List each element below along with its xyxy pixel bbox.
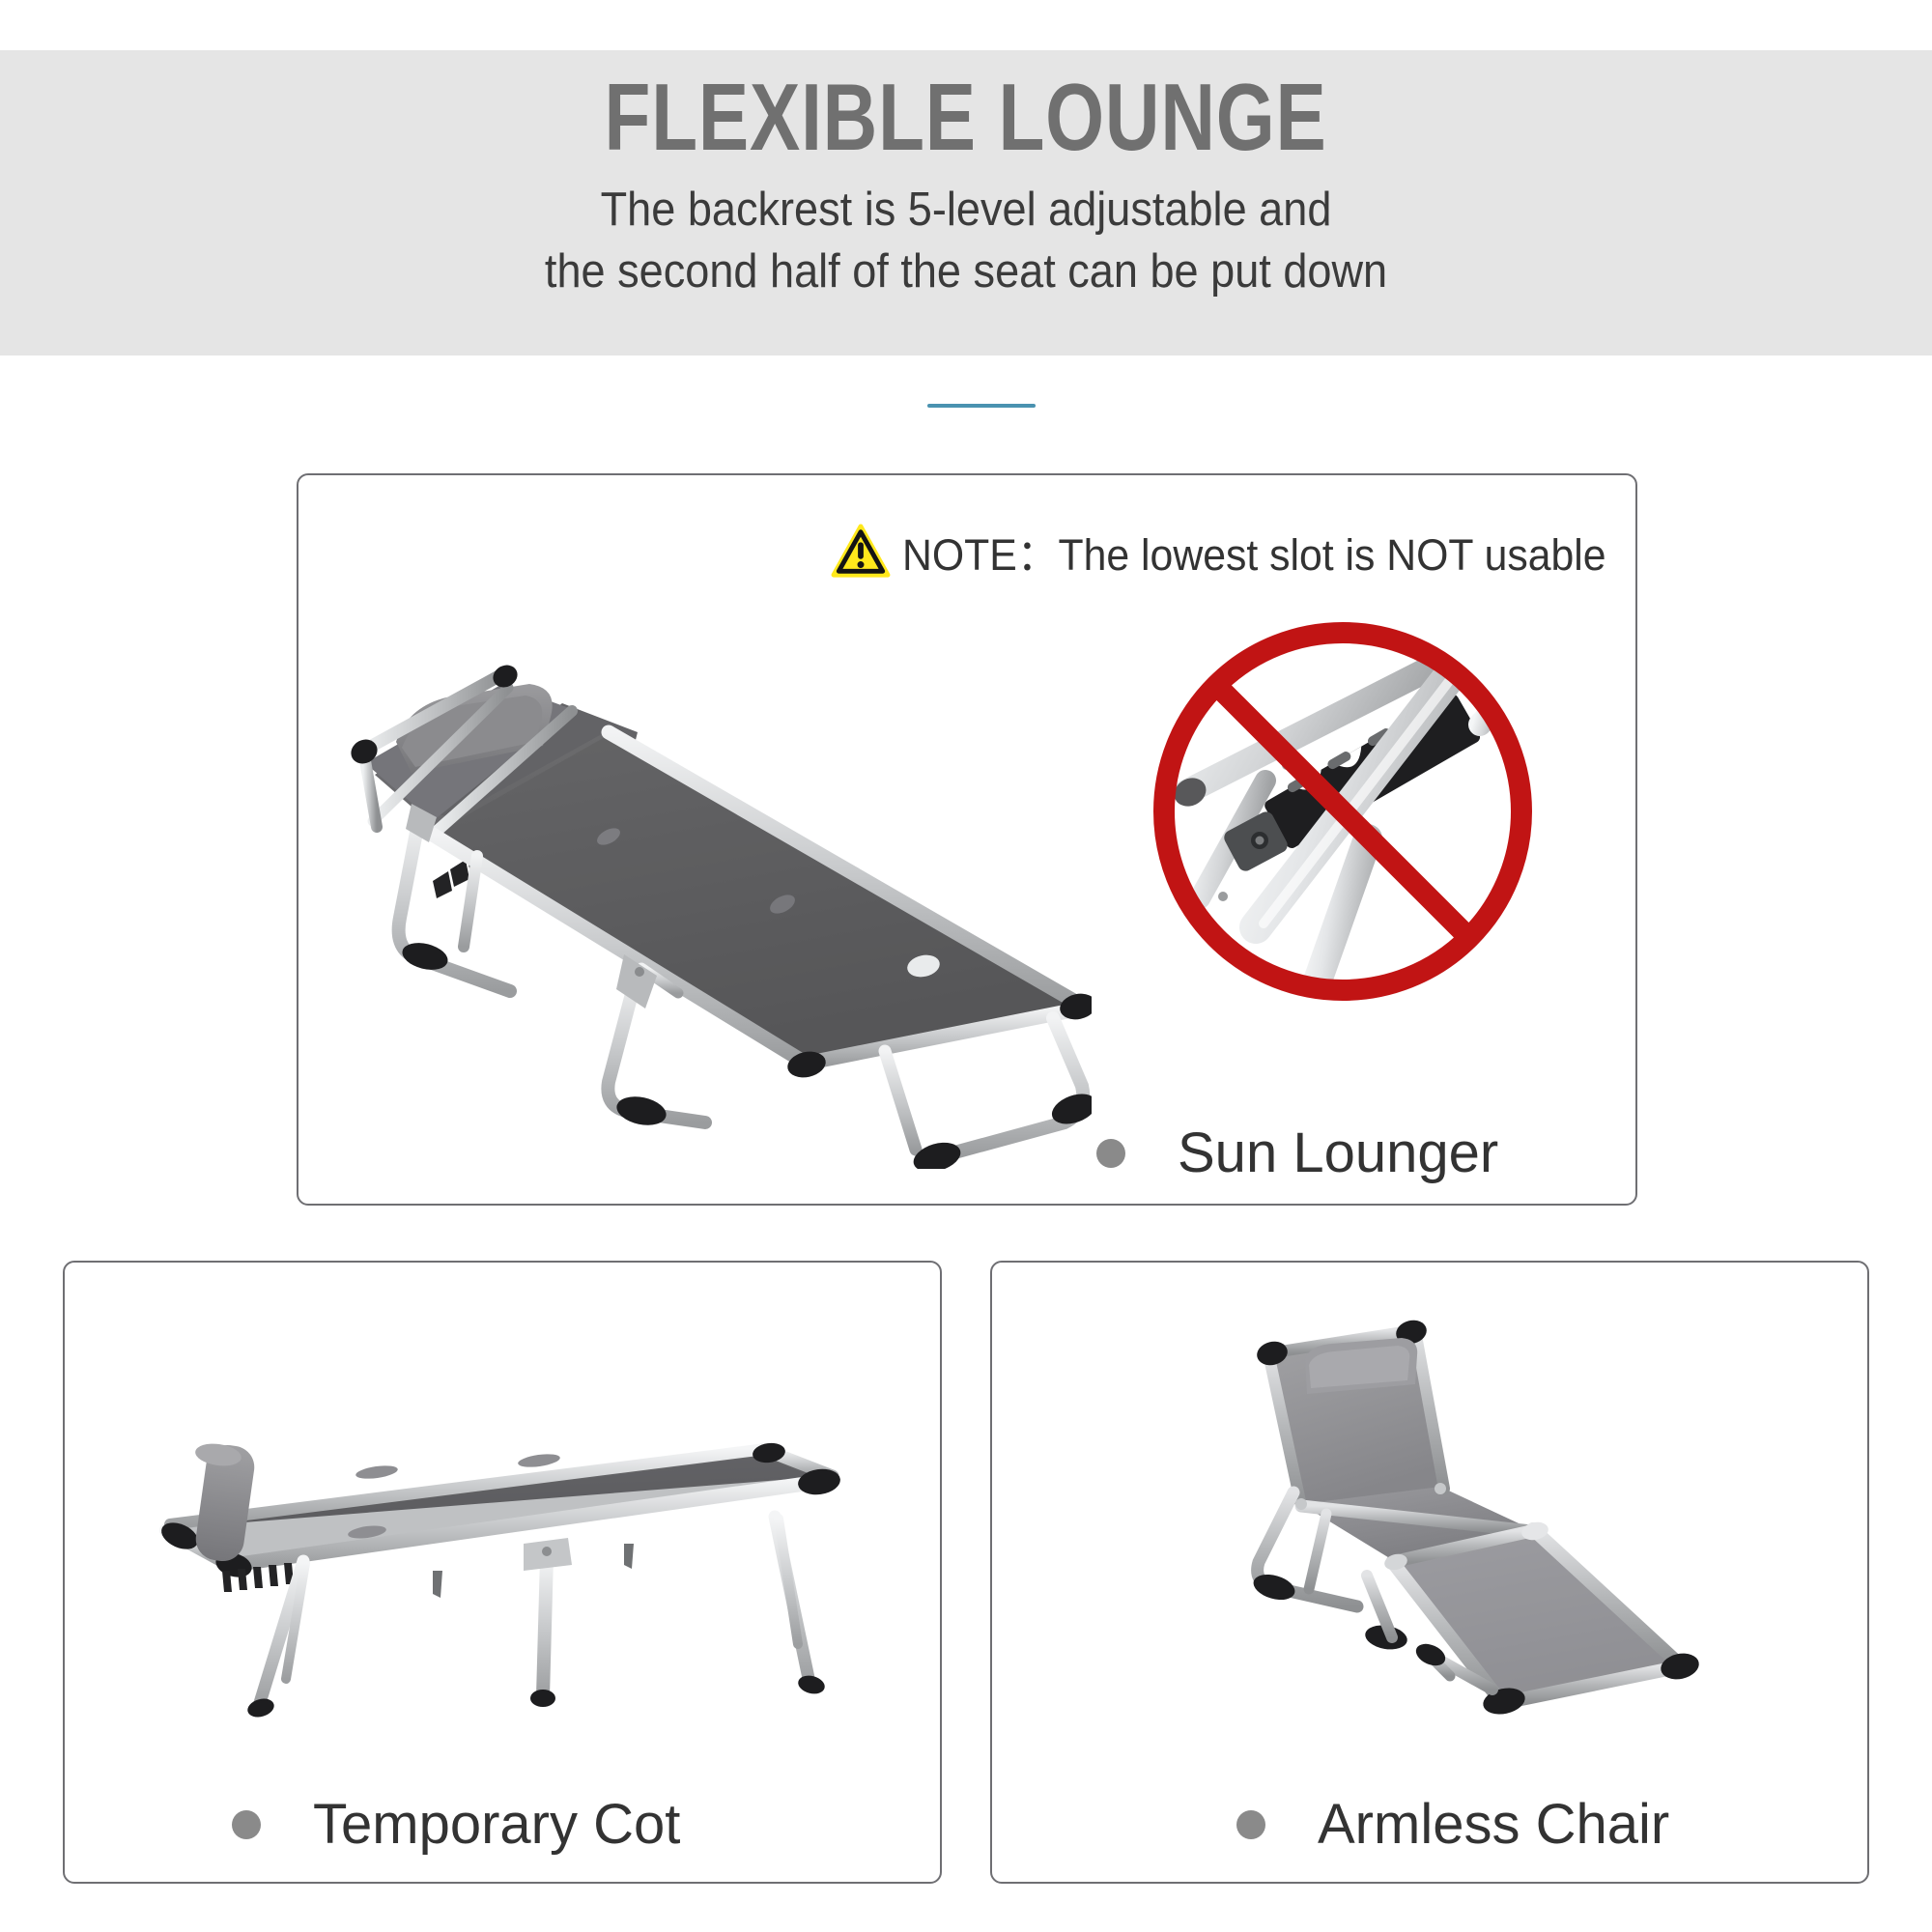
sun-lounger-photo: [319, 628, 1092, 1169]
section-divider: [927, 404, 1036, 408]
temporary-cot-photo: [87, 1420, 879, 1787]
bullet-icon: [232, 1810, 261, 1839]
label-row-sun-lounger: Sun Lounger: [1096, 1121, 1498, 1185]
card-label-armless-chair: Armless Chair: [1318, 1792, 1669, 1857]
armless-chair-photo: [1212, 1299, 1715, 1724]
subtitle-line-2: the second half of the seat can be put d…: [545, 241, 1387, 303]
prohibited-lowest-slot-photo: [1140, 609, 1546, 1014]
note-text: NOTE：The lowest slot is NOT usable: [902, 520, 1606, 582]
subtitle-line-1: The backrest is 5-level adjustable and: [545, 180, 1387, 241]
note-row: NOTE：The lowest slot is NOT usable: [831, 520, 1643, 582]
header-banner: FLEXIBLE LOUNGE The backrest is 5-level …: [0, 50, 1932, 355]
page-subtitle: The backrest is 5-level adjustable and t…: [545, 180, 1387, 302]
page-title: FLEXIBLE LOUNGE: [605, 70, 1327, 164]
bullet-icon: [1096, 1139, 1125, 1168]
bullet-icon: [1236, 1810, 1265, 1839]
warning-triangle-icon: [831, 524, 891, 580]
label-row-temporary-cot: Temporary Cot: [232, 1792, 680, 1857]
card-label-sun-lounger: Sun Lounger: [1178, 1121, 1498, 1185]
card-label-temporary-cot: Temporary Cot: [313, 1792, 680, 1857]
label-row-armless-chair: Armless Chair: [1236, 1792, 1669, 1857]
